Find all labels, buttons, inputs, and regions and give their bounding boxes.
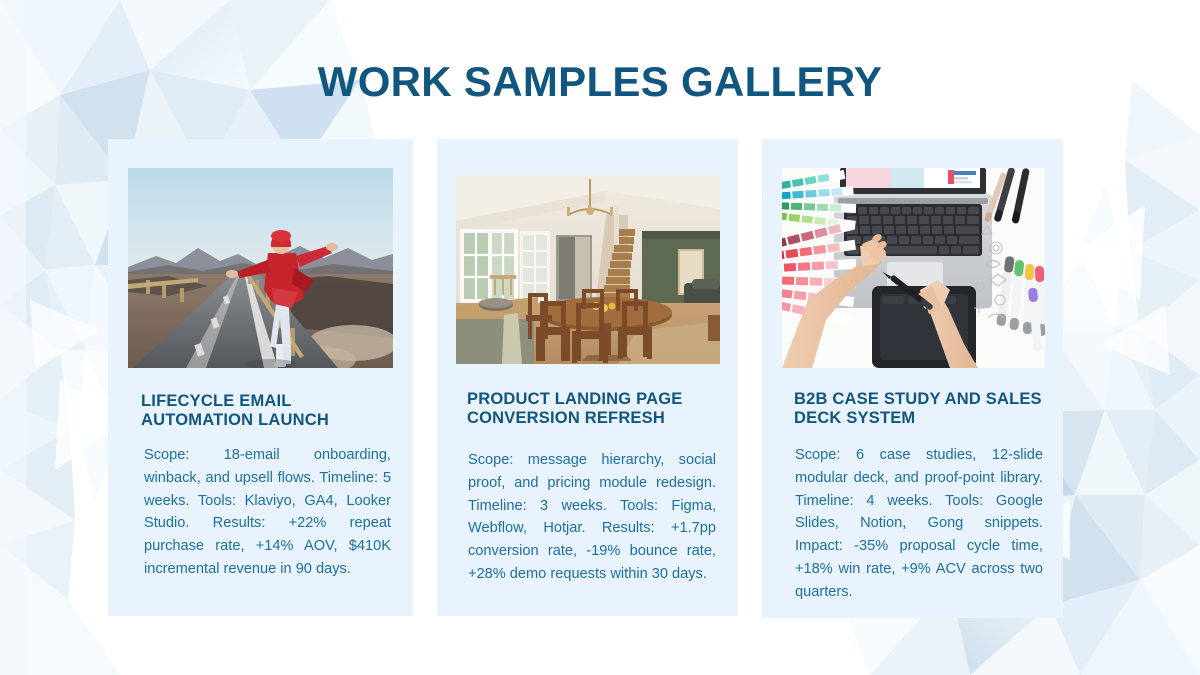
card-body-text: Scope: 18-email onboarding, winback, and… xyxy=(144,444,391,581)
work-sample-card[interactable]: LIFECYCLE EMAIL AUTOMATION LAUNCH Scope:… xyxy=(108,139,413,616)
card-body-text: Scope: 6 case studies, 12-slide modular … xyxy=(795,444,1043,603)
card-heading: PRODUCT LANDING PAGE CONVERSION REFRESH xyxy=(467,390,725,429)
designer-desk-laptop-tablet-swatches-photo xyxy=(782,168,1045,368)
card-body-text: Scope: message hierarchy, social proof, … xyxy=(468,449,716,586)
woman-balancing-on-desert-road-rail-photo xyxy=(128,168,393,368)
home-dining-room-interior-photo xyxy=(456,175,720,364)
card-heading: LIFECYCLE EMAIL AUTOMATION LAUNCH xyxy=(141,392,391,431)
work-sample-card[interactable]: PRODUCT LANDING PAGE CONVERSION REFRESH … xyxy=(437,139,738,616)
work-sample-card[interactable]: B2B CASE STUDY AND SALES DECK SYSTEM Sco… xyxy=(762,139,1063,618)
card-heading: B2B CASE STUDY AND SALES DECK SYSTEM xyxy=(794,390,1049,429)
slide-canvas: WORK SAMPLES GALLERY xyxy=(0,0,1200,675)
page-title: WORK SAMPLES GALLERY xyxy=(0,58,1200,106)
